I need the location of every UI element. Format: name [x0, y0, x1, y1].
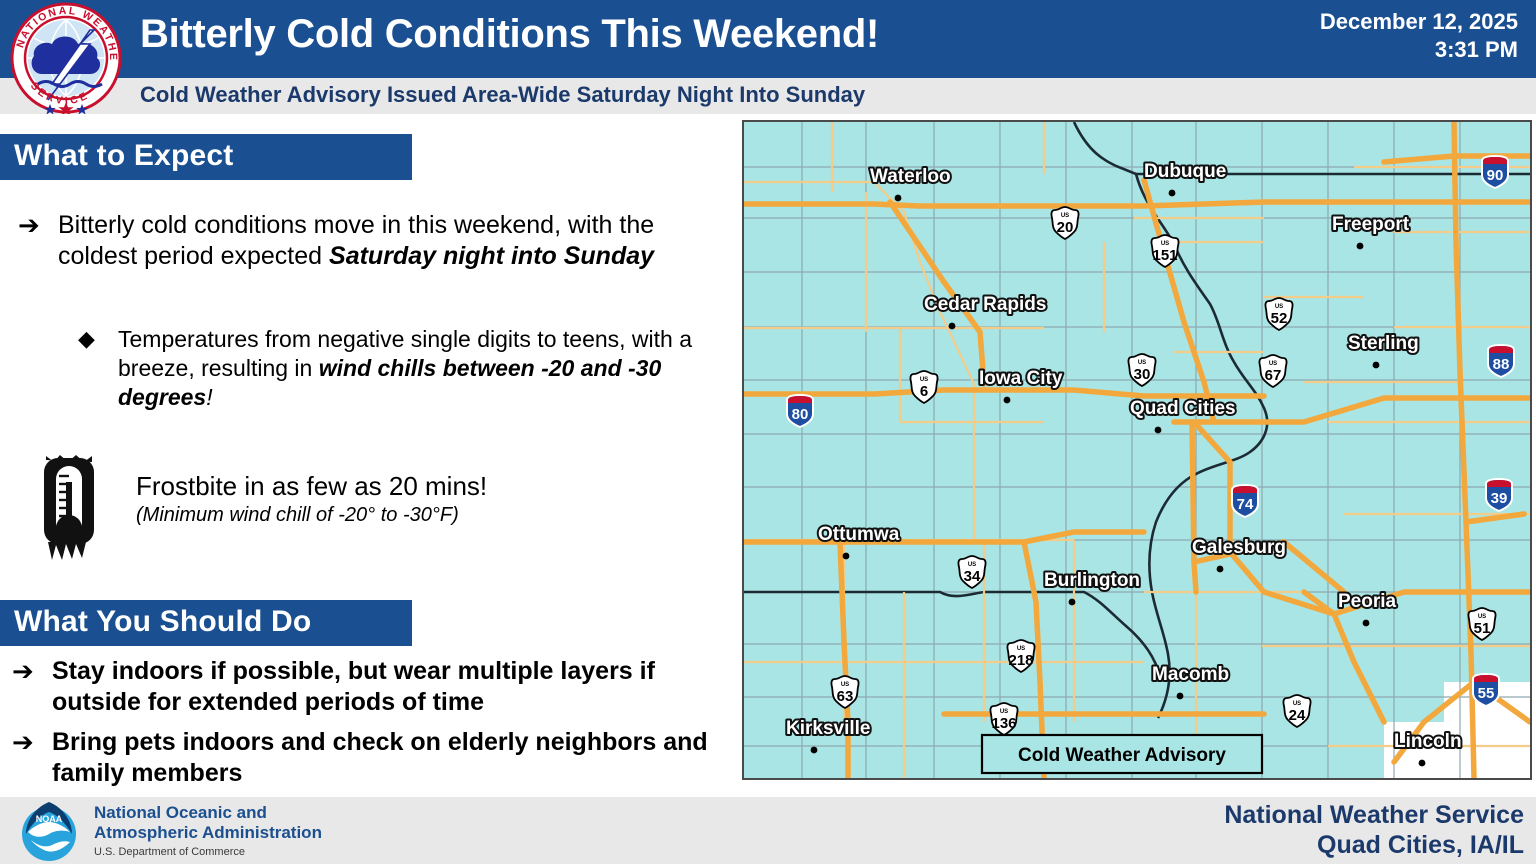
- city-dot: [1004, 397, 1011, 404]
- city-dot: [843, 553, 850, 560]
- shield-number: 55: [1478, 685, 1495, 702]
- city-label: Sterling: [1348, 333, 1419, 354]
- arrow-bullet-icon: ➔: [12, 656, 52, 717]
- header-time: 3:31 PM: [1320, 36, 1518, 64]
- route-shield-151: US151: [1151, 235, 1178, 267]
- noaa-wordmark: National Oceanic and Atmospheric Adminis…: [94, 803, 322, 858]
- map-canvas: WaterlooDubuqueFreeportCedar RapidsSterl…: [744, 122, 1530, 778]
- city-label: Kirksville: [786, 718, 871, 739]
- city-label: Burlington: [1044, 570, 1140, 591]
- header-datetime: December 12, 2025 3:31 PM: [1320, 8, 1518, 63]
- office-line-2: Quad Cities, IA/IL: [1224, 830, 1524, 860]
- city-dot: [1363, 620, 1370, 627]
- shield-number: 80: [792, 406, 809, 423]
- advisory-map[interactable]: WaterlooDubuqueFreeportCedar RapidsSterl…: [742, 120, 1532, 780]
- do-item-1: ➔ Stay indoors if possible, but wear mul…: [12, 656, 727, 717]
- shield-number: 218: [1008, 652, 1033, 669]
- noaa-logo-icon: NOAA: [18, 800, 80, 862]
- expect-subbullet-1: ◆ Temperatures from negative single digi…: [78, 325, 738, 411]
- shield-number: 24: [1289, 707, 1306, 724]
- legend-label: Cold Weather Advisory: [1018, 745, 1226, 766]
- city-label: Freeport: [1332, 214, 1410, 235]
- expect-bullet-1: ➔ Bitterly cold conditions move in this …: [18, 210, 718, 271]
- city-dot: [895, 195, 902, 202]
- do-item-2: ➔ Bring pets indoors and check on elderl…: [12, 727, 727, 788]
- city-dot: [1357, 243, 1364, 250]
- route-shield-88: 88: [1488, 345, 1514, 377]
- route-shield-218: US218: [1007, 640, 1034, 672]
- city-label: Ottumwa: [818, 524, 900, 545]
- city-dot: [1419, 760, 1426, 767]
- city-label: Iowa City: [979, 368, 1063, 389]
- city-label: Lincoln: [1394, 731, 1462, 752]
- route-shield-136: US136: [990, 703, 1017, 735]
- route-shield-74: 74: [1232, 485, 1258, 517]
- city-label: Cedar Rapids: [924, 294, 1046, 315]
- interstate-shield-top: [1487, 480, 1511, 487]
- shield-number: 136: [991, 715, 1016, 732]
- do-item-1-text: Stay indoors if possible, but wear multi…: [52, 656, 727, 717]
- shield-number: 30: [1134, 366, 1151, 383]
- frostbite-callout: Frostbite in as few as 20 mins! (Minimum…: [30, 452, 730, 560]
- diamond-bullet-icon: ◆: [78, 325, 118, 411]
- route-shield-90: 90: [1482, 156, 1508, 188]
- city-dot: [1217, 566, 1224, 573]
- section-banner-what-to-expect: What to Expect: [0, 134, 412, 180]
- city-dot: [1373, 362, 1380, 369]
- noaa-line-3: U.S. Department of Commerce: [94, 846, 322, 858]
- arrow-bullet-icon: ➔: [18, 210, 58, 271]
- city-label: Galesburg: [1192, 537, 1286, 558]
- route-shield-80: 80: [787, 395, 813, 427]
- frostbite-subtext: (Minimum wind chill of -20° to -30°F): [136, 502, 487, 528]
- noaa-line-1: National Oceanic and: [94, 803, 322, 823]
- do-item-2-text: Bring pets indoors and check on elderly …: [52, 727, 727, 788]
- frostbite-text: Frostbite in as few as 20 mins! (Minimum…: [114, 452, 487, 560]
- shield-number: 63: [837, 688, 854, 705]
- office-line-1: National Weather Service: [1224, 800, 1524, 830]
- shield-number: 74: [1237, 496, 1254, 513]
- city-label: Macomb: [1152, 664, 1229, 685]
- route-shield-55: 55: [1473, 674, 1499, 706]
- office-credit: National Weather Service Quad Cities, IA…: [1224, 800, 1524, 860]
- page-title: Bitterly Cold Conditions This Weekend!: [140, 12, 879, 57]
- city-label: Waterloo: [870, 166, 951, 187]
- city-dot: [1177, 693, 1184, 700]
- expect-bullet-1-text: Bitterly cold conditions move in this we…: [58, 210, 718, 271]
- noaa-line-2: Atmospheric Administration: [94, 823, 322, 843]
- interstate-shield-top: [788, 396, 812, 403]
- header-date: December 12, 2025: [1320, 8, 1518, 36]
- city-dot: [811, 747, 818, 754]
- city-dot: [1169, 190, 1176, 197]
- interstate-shield-top: [1474, 675, 1498, 682]
- shield-number: 88: [1493, 356, 1510, 373]
- shield-number: 51: [1474, 620, 1491, 637]
- expect-bullet-1-bold: Saturday night into Sunday: [329, 242, 654, 270]
- expect-subbullet-1-post: !: [206, 384, 212, 410]
- arrow-bullet-icon: ➔: [12, 727, 52, 788]
- shield-number: 6: [920, 383, 928, 400]
- interstate-shield-top: [1233, 486, 1257, 493]
- weather-graphic: NATIONAL WEATHER SERVICE Bitterly Cold C…: [0, 0, 1536, 864]
- shield-number: 52: [1271, 310, 1288, 327]
- city-dot: [949, 323, 956, 330]
- city-dot: [1155, 427, 1162, 434]
- city-dot: [1069, 599, 1076, 606]
- expect-subbullet-1-text: Temperatures from negative single digits…: [118, 325, 738, 411]
- shield-number: 90: [1487, 167, 1504, 184]
- city-label: Dubuque: [1144, 161, 1226, 182]
- shield-number: 67: [1265, 367, 1282, 384]
- page-subtitle: Cold Weather Advisory Issued Area-Wide S…: [140, 82, 865, 108]
- city-label: Quad Cities: [1130, 398, 1236, 419]
- nws-logo-icon: NATIONAL WEATHER SERVICE: [4, 2, 128, 114]
- frostbite-headline: Frostbite in as few as 20 mins!: [136, 472, 487, 502]
- section-banner-what-you-should-do: What You Should Do: [0, 600, 412, 646]
- route-shield-39: 39: [1486, 479, 1512, 511]
- svg-text:NOAA: NOAA: [36, 814, 63, 824]
- advisory-area-fill: [744, 122, 1530, 778]
- map-legend: Cold Weather Advisory: [982, 735, 1262, 773]
- city-label: Peoria: [1338, 591, 1397, 612]
- interstate-shield-top: [1489, 346, 1513, 353]
- interstate-shield-top: [1483, 157, 1507, 164]
- shield-number: 20: [1057, 219, 1074, 236]
- thermometer-icon: [30, 452, 114, 560]
- shield-number: 34: [964, 568, 981, 585]
- shield-number: 151: [1152, 247, 1177, 264]
- shield-number: 39: [1491, 490, 1508, 507]
